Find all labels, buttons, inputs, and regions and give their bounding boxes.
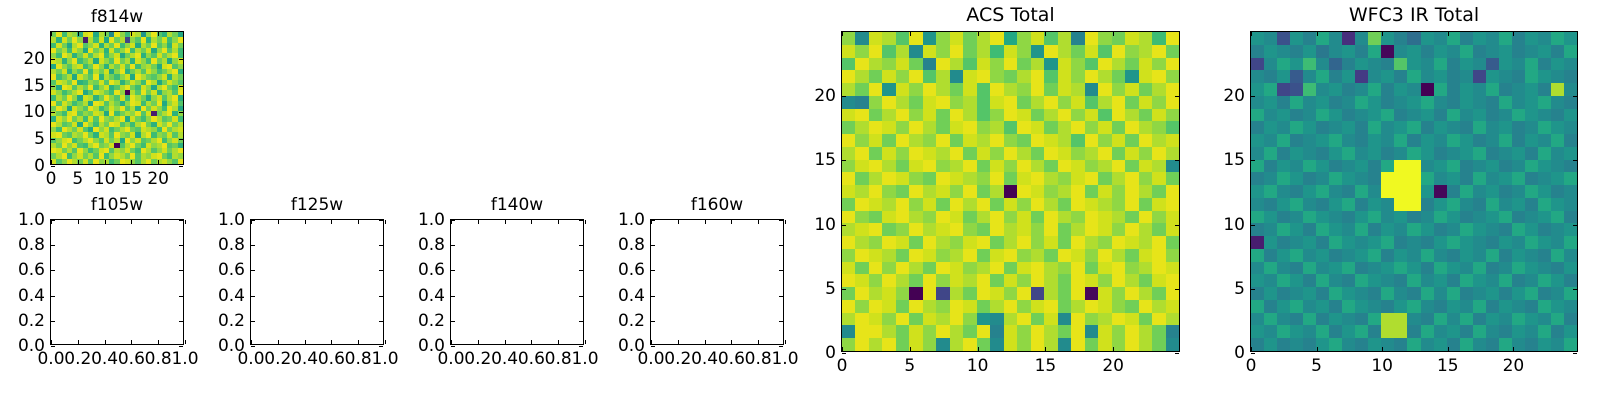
y-tick: [179, 270, 183, 271]
x-tick-label: 10: [967, 356, 989, 376]
y-tick: [179, 220, 183, 221]
x-tick: [158, 160, 159, 164]
x-tick: [331, 340, 332, 344]
x-tick: [558, 340, 559, 344]
y-tick-label: 20: [1223, 86, 1245, 106]
y-tick: [51, 321, 55, 322]
x-tick-label: 0.6: [318, 349, 345, 369]
y-tick-label: 0.6: [218, 260, 245, 280]
y-tick: [51, 346, 55, 347]
x-tick: [105, 220, 106, 224]
y-tick: [1573, 160, 1577, 161]
x-tick: [705, 340, 706, 344]
y-tick: [379, 346, 383, 347]
x-tick: [651, 340, 652, 344]
y-tick: [579, 270, 583, 271]
x-tick-label: 0.8: [545, 349, 572, 369]
y-tick-label: 0: [1234, 343, 1245, 363]
x-tick: [78, 340, 79, 344]
y-tick-label: 0: [34, 156, 45, 176]
x-tick-label: 0: [46, 169, 57, 189]
x-tick: [1513, 32, 1514, 36]
x-tick-label: 5: [72, 169, 83, 189]
x-tick: [678, 340, 679, 344]
x-tick: [1113, 32, 1114, 36]
x-tick: [842, 347, 843, 351]
x-tick-label: 15: [1437, 356, 1459, 376]
y-tick: [779, 346, 783, 347]
y-tick: [651, 220, 655, 221]
y-tick-label: 0.2: [218, 311, 245, 331]
y-tick: [1175, 353, 1179, 354]
x-tick-label: 1.0: [171, 349, 198, 369]
y-tick-label: 0.0: [418, 336, 445, 356]
x-tick-label: 0.4: [91, 349, 118, 369]
y-tick: [579, 220, 583, 221]
x-tick-label: 5: [904, 356, 915, 376]
y-tick: [1573, 289, 1577, 290]
y-tick: [1251, 160, 1255, 161]
x-tick: [251, 340, 252, 344]
y-tick: [651, 346, 655, 347]
panel-title-f160w: f160w: [651, 196, 783, 215]
y-tick-label: 0: [825, 343, 836, 363]
x-tick-label: 0.4: [691, 349, 718, 369]
x-tick: [158, 220, 159, 224]
panel-title-wfc3-ir-total: WFC3 IR Total: [1251, 5, 1577, 26]
x-tick: [278, 220, 279, 224]
y-tick: [651, 245, 655, 246]
y-tick: [51, 139, 55, 140]
y-tick: [842, 225, 846, 226]
y-tick: [451, 245, 455, 246]
x-tick-label: 5: [1311, 356, 1322, 376]
y-tick: [842, 96, 846, 97]
x-tick-label: 10: [94, 169, 116, 189]
x-tick: [1448, 347, 1449, 351]
x-tick: [51, 160, 52, 164]
x-tick: [78, 160, 79, 164]
x-tick-label: 1.0: [371, 349, 398, 369]
x-tick: [785, 220, 786, 224]
x-tick: [731, 220, 732, 224]
x-tick: [1448, 32, 1449, 36]
y-tick: [379, 270, 383, 271]
x-tick: [1317, 32, 1318, 36]
x-tick-label: 0: [1246, 356, 1257, 376]
panel-title-f105w: f105w: [51, 196, 183, 215]
x-tick: [505, 220, 506, 224]
y-tick: [579, 346, 583, 347]
y-tick: [451, 296, 455, 297]
x-tick: [131, 160, 132, 164]
x-tick: [585, 340, 586, 344]
y-tick-label: 0.0: [618, 336, 645, 356]
x-tick: [478, 340, 479, 344]
x-tick: [358, 220, 359, 224]
x-tick-label: 15: [1035, 356, 1057, 376]
panel-acs-total[interactable]: ACS Total 0510152005101520: [841, 31, 1180, 352]
y-tick: [51, 270, 55, 271]
x-tick: [385, 340, 386, 344]
y-tick: [379, 296, 383, 297]
y-tick-label: 1.0: [218, 210, 245, 230]
x-tick-label: 0.4: [291, 349, 318, 369]
y-tick-label: 0.0: [18, 336, 45, 356]
x-tick-label: 0.2: [464, 349, 491, 369]
x-tick: [731, 340, 732, 344]
x-tick-label: 0.8: [345, 349, 372, 369]
x-tick: [910, 347, 911, 351]
matplotlib-figure: f814w 0510152005101520 f105w 0.00.20.40.…: [0, 0, 1600, 400]
x-tick: [131, 340, 132, 344]
y-tick: [51, 112, 55, 113]
x-tick: [705, 220, 706, 224]
y-tick: [179, 139, 183, 140]
panel-wfc3-ir-total[interactable]: WFC3 IR Total 0510152005101520: [1250, 31, 1578, 352]
y-tick: [1251, 353, 1255, 354]
x-tick: [842, 32, 843, 36]
y-tick-label: 0.4: [418, 286, 445, 306]
y-tick-label: 15: [814, 150, 836, 170]
y-tick-label: 10: [814, 215, 836, 235]
y-tick: [179, 112, 183, 113]
y-tick: [179, 296, 183, 297]
x-tick: [185, 340, 186, 344]
y-tick-label: 5: [34, 129, 45, 149]
y-tick: [1175, 289, 1179, 290]
panel-title-f140w: f140w: [451, 196, 583, 215]
y-tick: [1175, 96, 1179, 97]
y-tick: [51, 166, 55, 167]
x-tick: [105, 160, 106, 164]
x-tick: [305, 340, 306, 344]
x-tick: [1382, 347, 1383, 351]
y-tick-label: 0.4: [18, 286, 45, 306]
y-tick-label: 0.8: [18, 235, 45, 255]
x-tick-label: 0.2: [664, 349, 691, 369]
y-tick-label: 0.6: [618, 260, 645, 280]
y-tick: [51, 86, 55, 87]
panel-f160w[interactable]: f160w 0.00.20.40.60.81.00.00.20.40.60.81…: [650, 219, 784, 345]
y-tick: [451, 270, 455, 271]
y-tick-label: 1.0: [418, 210, 445, 230]
y-tick: [579, 321, 583, 322]
x-tick-label: 0.2: [264, 349, 291, 369]
y-tick-label: 0.8: [618, 235, 645, 255]
y-tick: [251, 220, 255, 221]
y-tick-label: 0.6: [418, 260, 445, 280]
y-tick: [379, 321, 383, 322]
x-tick-label: 0.2: [64, 349, 91, 369]
x-tick: [758, 340, 759, 344]
heatmap-f814w: [51, 32, 183, 164]
y-tick: [1573, 96, 1577, 97]
x-tick: [51, 340, 52, 344]
y-tick: [451, 220, 455, 221]
x-tick: [505, 340, 506, 344]
y-tick: [1573, 225, 1577, 226]
y-tick: [1251, 96, 1255, 97]
x-tick: [978, 32, 979, 36]
x-tick: [910, 32, 911, 36]
x-tick: [785, 340, 786, 344]
y-tick: [251, 245, 255, 246]
y-tick-label: 0.0: [218, 336, 245, 356]
panel-f125w[interactable]: f125w 0.00.20.40.60.81.00.00.20.40.60.81…: [250, 219, 384, 345]
y-tick: [842, 289, 846, 290]
y-tick: [379, 245, 383, 246]
x-tick: [1382, 32, 1383, 36]
y-tick: [179, 59, 183, 60]
y-tick: [451, 321, 455, 322]
y-tick: [1251, 225, 1255, 226]
x-tick: [105, 32, 106, 36]
y-tick: [179, 321, 183, 322]
x-tick-label: 0: [837, 356, 848, 376]
x-tick: [278, 340, 279, 344]
x-tick: [158, 340, 159, 344]
y-tick-label: 10: [23, 102, 45, 122]
x-tick: [158, 32, 159, 36]
y-tick: [179, 166, 183, 167]
x-tick-label: 1.0: [771, 349, 798, 369]
x-tick: [78, 32, 79, 36]
y-tick: [251, 296, 255, 297]
x-tick: [1251, 347, 1252, 351]
y-tick: [1251, 289, 1255, 290]
y-tick: [251, 346, 255, 347]
y-tick-label: 20: [23, 49, 45, 69]
y-tick: [379, 220, 383, 221]
y-tick: [51, 59, 55, 60]
x-tick-label: 0.4: [491, 349, 518, 369]
y-tick-label: 0.2: [18, 311, 45, 331]
y-tick: [651, 270, 655, 271]
x-tick: [451, 340, 452, 344]
y-tick: [842, 353, 846, 354]
y-tick: [579, 296, 583, 297]
x-tick: [978, 347, 979, 351]
x-tick: [78, 220, 79, 224]
x-tick: [758, 220, 759, 224]
x-tick: [305, 220, 306, 224]
x-tick: [185, 220, 186, 224]
x-tick: [1113, 347, 1114, 351]
x-tick: [585, 220, 586, 224]
y-tick-label: 0.4: [218, 286, 245, 306]
x-tick-label: 20: [147, 169, 169, 189]
x-tick-label: 0.6: [118, 349, 145, 369]
x-tick-label: 20: [1503, 356, 1525, 376]
y-tick: [51, 296, 55, 297]
panel-f814w[interactable]: f814w 0510152005101520: [50, 31, 184, 165]
y-tick: [779, 321, 783, 322]
y-tick: [651, 321, 655, 322]
x-tick: [385, 220, 386, 224]
y-tick: [51, 220, 55, 221]
y-tick-label: 0.2: [418, 311, 445, 331]
y-tick-label: 5: [825, 279, 836, 299]
x-tick: [531, 220, 532, 224]
y-tick-label: 0.8: [418, 235, 445, 255]
x-tick-label: 1.0: [571, 349, 598, 369]
heatmap-acs-total: [842, 32, 1179, 351]
x-tick: [1251, 32, 1252, 36]
y-tick-label: 0.8: [218, 235, 245, 255]
x-tick: [358, 340, 359, 344]
y-tick: [651, 296, 655, 297]
x-tick: [1045, 347, 1046, 351]
y-tick: [179, 245, 183, 246]
panel-title-f814w: f814w: [51, 8, 183, 27]
y-tick-label: 1.0: [618, 210, 645, 230]
x-tick: [558, 220, 559, 224]
x-tick-label: 15: [121, 169, 143, 189]
y-tick-label: 0.6: [18, 260, 45, 280]
x-tick-label: 20: [1102, 356, 1124, 376]
y-tick-label: 10: [1223, 215, 1245, 235]
x-tick-label: 0.8: [145, 349, 172, 369]
y-tick-label: 15: [1223, 150, 1245, 170]
y-tick-label: 5: [1234, 279, 1245, 299]
y-tick-label: 15: [23, 76, 45, 96]
y-tick: [451, 346, 455, 347]
panel-f105w[interactable]: f105w 0.00.20.40.60.81.00.00.20.40.60.81…: [50, 219, 184, 345]
x-tick: [131, 220, 132, 224]
y-tick: [779, 245, 783, 246]
panel-title-acs-total: ACS Total: [842, 5, 1179, 26]
x-tick: [131, 32, 132, 36]
y-tick-label: 20: [814, 86, 836, 106]
y-tick: [251, 270, 255, 271]
y-tick: [1175, 160, 1179, 161]
y-tick-label: 1.0: [18, 210, 45, 230]
x-tick-label: 0.6: [518, 349, 545, 369]
y-tick: [779, 220, 783, 221]
panel-title-f125w: f125w: [251, 196, 383, 215]
x-tick: [51, 32, 52, 36]
y-tick: [779, 270, 783, 271]
x-tick: [1045, 32, 1046, 36]
y-tick: [842, 160, 846, 161]
y-tick: [179, 346, 183, 347]
y-tick-label: 0.2: [618, 311, 645, 331]
y-tick: [179, 86, 183, 87]
x-tick-label: 10: [1371, 356, 1393, 376]
y-tick: [251, 321, 255, 322]
x-tick: [105, 340, 106, 344]
y-tick: [1573, 353, 1577, 354]
x-tick: [531, 340, 532, 344]
heatmap-wfc3-ir-total: [1251, 32, 1577, 351]
x-tick: [678, 220, 679, 224]
x-tick: [331, 220, 332, 224]
y-tick-label: 0.4: [618, 286, 645, 306]
x-tick-label: 0.6: [718, 349, 745, 369]
x-tick: [478, 220, 479, 224]
x-tick: [1513, 347, 1514, 351]
x-tick-label: 0.8: [745, 349, 772, 369]
y-tick: [51, 245, 55, 246]
y-tick: [1175, 225, 1179, 226]
panel-f140w[interactable]: f140w 0.00.20.40.60.81.00.00.20.40.60.81…: [450, 219, 584, 345]
y-tick: [579, 245, 583, 246]
y-tick: [779, 296, 783, 297]
x-tick: [1317, 347, 1318, 351]
